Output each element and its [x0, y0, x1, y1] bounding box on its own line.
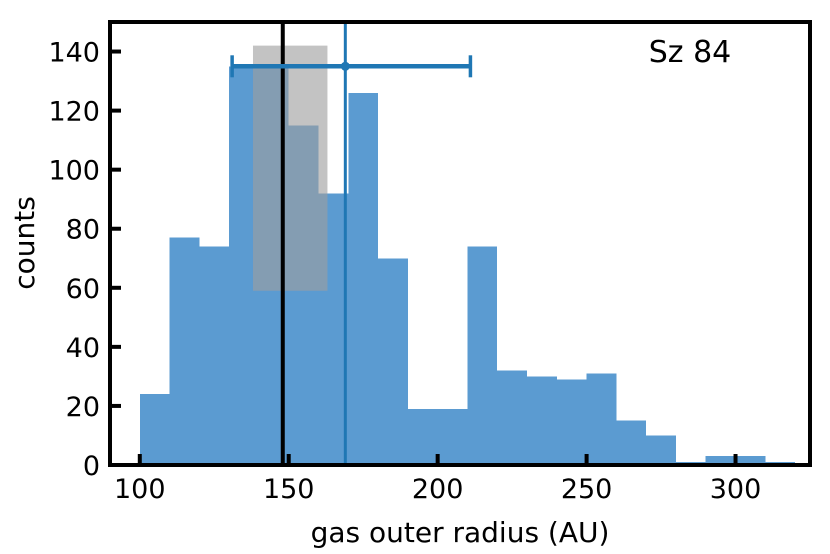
source-label: Sz 84: [649, 35, 732, 70]
y-tick-label: 120: [48, 97, 100, 128]
histogram-bar: [348, 93, 378, 465]
x-axis-tick-labels: 100150200250300: [114, 474, 761, 505]
x-axis-title: gas outer radius (AU): [311, 516, 610, 549]
histogram-figure: 100150200250300020406080100120140gas out…: [0, 0, 830, 554]
histogram-bar: [527, 376, 557, 465]
y-tick-label: 0: [83, 451, 100, 482]
y-tick-label: 20: [66, 392, 100, 423]
y-tick-label: 80: [66, 215, 100, 246]
histogram-bar: [170, 238, 200, 465]
histogram-bar: [557, 379, 587, 465]
grey-confidence-band: [253, 46, 327, 291]
y-tick-label: 40: [66, 333, 100, 364]
histogram-bar: [497, 370, 527, 465]
histogram-bar: [646, 435, 676, 465]
y-tick-label: 140: [48, 38, 100, 69]
x-tick-label: 200: [412, 474, 464, 505]
x-tick-label: 100: [114, 474, 166, 505]
y-tick-label: 100: [48, 156, 100, 187]
y-axis-tick-labels: 020406080100120140: [48, 38, 100, 482]
y-tick-label: 60: [66, 274, 100, 305]
histogram-bar: [438, 409, 468, 465]
x-tick-label: 300: [710, 474, 762, 505]
histogram-bar: [199, 246, 229, 465]
grey-confidence-band: [253, 46, 327, 291]
histogram-bar: [587, 373, 617, 465]
histogram-bar: [140, 394, 170, 465]
histogram-bar: [467, 246, 497, 465]
errorbar-center-marker: [341, 62, 350, 71]
histogram-bar: [378, 258, 408, 465]
y-axis-title: counts: [8, 196, 41, 290]
x-tick-label: 250: [561, 474, 613, 505]
x-tick-label: 150: [263, 474, 315, 505]
histogram-bar: [408, 409, 438, 465]
plot-canvas: 100150200250300020406080100120140gas out…: [0, 0, 830, 554]
histogram-bar: [616, 421, 646, 465]
